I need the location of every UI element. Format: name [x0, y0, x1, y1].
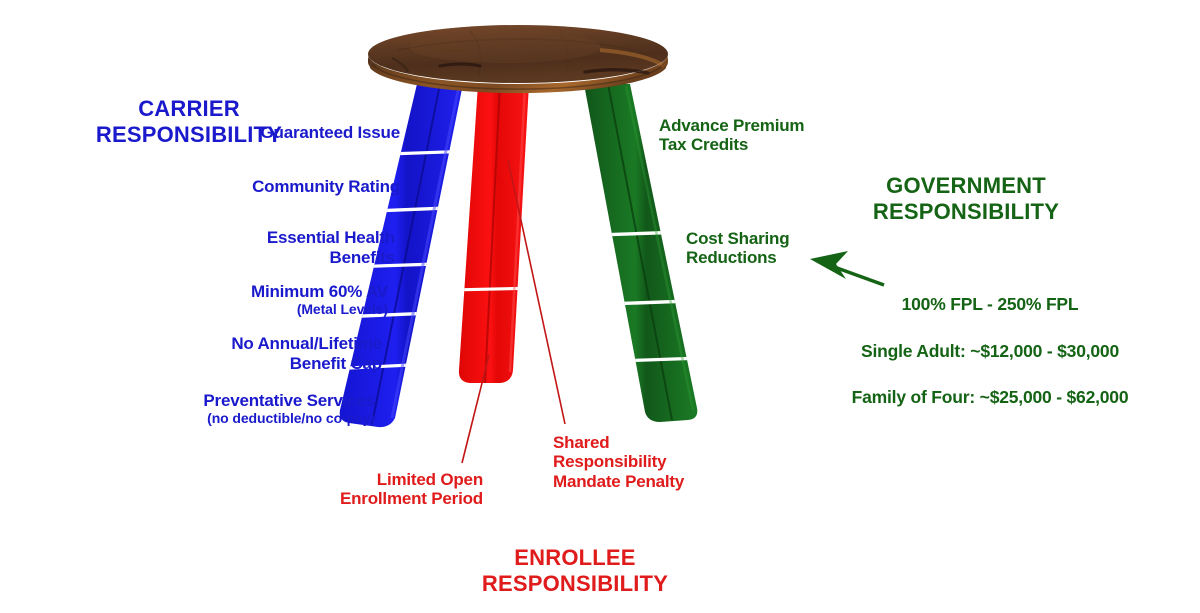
carrier-item-label: Community Rating	[252, 177, 400, 196]
carrier-item-label: Minimum 60% AV	[251, 282, 388, 301]
carrier-item-sublabel: (no deductible/no co-pay)	[90, 411, 375, 427]
carrier-item-community-rating: Community Rating	[130, 158, 400, 197]
stool-leg-enrollee	[450, 84, 540, 383]
carrier-item-label: No Annual/Lifetime Benefit Cap	[231, 334, 382, 372]
carrier-item-label: Essential Health Benefits	[267, 228, 395, 266]
enrollee-responsibility-heading: ENROLLEE RESPONSIBILITY	[430, 545, 720, 597]
carrier-item-no-benefit-cap: No Annual/Lifetime Benefit Cap	[110, 315, 382, 373]
government-item-cost-sharing-reductions: Cost Sharing Reductions	[686, 229, 836, 268]
fpl-line-single-adult: Single Adult: ~$12,000 - $30,000	[792, 340, 1188, 363]
fpl-line-family-of-four: Family of Four: ~$25,000 - $62,000	[792, 386, 1188, 409]
carrier-item-essential-health-benefits: Essential Health Benefits	[140, 209, 395, 267]
stool-seat	[368, 25, 668, 93]
enrollee-item-shared-responsibility-mandate-penalty: Shared Responsibility Mandate Penalty	[553, 433, 783, 491]
government-responsibility-heading: GOVERNMENT RESPONSIBILITY	[848, 173, 1084, 225]
fpl-line-range: 100% FPL - 250% FPL	[792, 293, 1188, 316]
carrier-item-label: Preventative Services	[203, 391, 375, 410]
carrier-item-guaranteed-issue: Guaranteed Issue	[150, 104, 400, 143]
enrollee-item-limited-open-enrollment: Limited Open Enrollment Period	[268, 470, 483, 509]
government-item-advance-premium-tax-credits: Advance Premium Tax Credits	[659, 116, 869, 155]
carrier-item-label: Guaranteed Issue	[261, 123, 400, 142]
diagram-canvas: CARRIER RESPONSIBILITY Guaranteed Issue …	[0, 0, 1200, 613]
fpl-annotation: 100% FPL - 250% FPL Single Adult: ~$12,0…	[792, 270, 1188, 433]
carrier-item-preventative-services: Preventative Services (no deductible/no …	[90, 372, 375, 446]
